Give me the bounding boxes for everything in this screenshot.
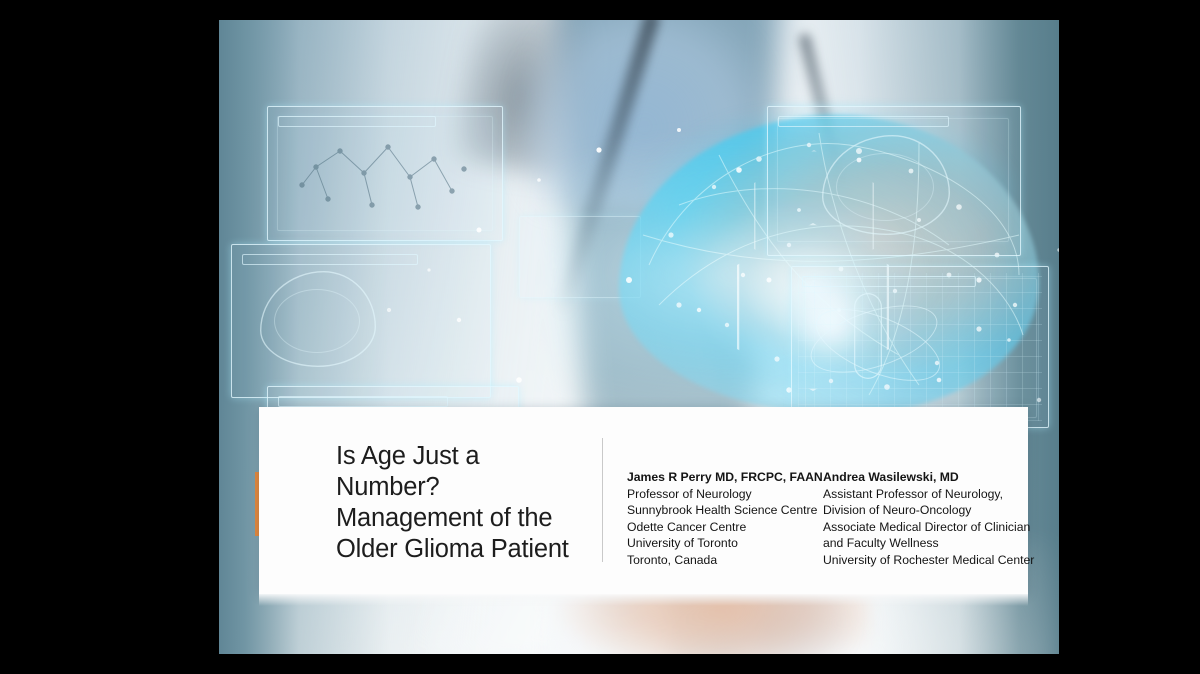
hud-panel-top-right-inner [777, 118, 1009, 242]
speaker-2-line-5: University of Rochester Medical Center [823, 552, 1045, 569]
video-player-stage: Is Age Just a Number? Management of the … [0, 0, 1200, 674]
speaker-divider [602, 438, 603, 562]
speaker-1-line-3: Odette Cancer Centre [627, 519, 827, 536]
speaker-2-line-1: Assistant Professor of Neurology, [823, 486, 1045, 503]
speaker-2-line-4: and Faculty Wellness [823, 535, 1045, 552]
speaker-block-2: Andrea Wasilewski, MD Assistant Professo… [823, 469, 1045, 569]
slide-title: Is Age Just a Number? Management of the … [336, 441, 611, 565]
speaker-1-line-5: Toronto, Canada [627, 552, 827, 569]
speaker-1-line-1: Professor of Neurology [627, 486, 827, 503]
hud-panel-mid-right-inner [805, 278, 1037, 418]
speaker-1-name: James R Perry MD, FRCPC, FAAN [627, 469, 827, 486]
speaker-1-line-4: University of Toronto [627, 535, 827, 552]
presentation-slide: Is Age Just a Number? Management of the … [219, 20, 1059, 654]
title-card: Is Age Just a Number? Management of the … [259, 407, 1028, 594]
speaker-2-line-3: Associate Medical Director of Clinician [823, 519, 1045, 536]
speaker-2-name: Andrea Wasilewski, MD [823, 469, 1045, 486]
speaker-2-line-2: Division of Neuro-Oncology [823, 502, 1045, 519]
speaker-1-line-2: Sunnybrook Health Science Centre [627, 502, 827, 519]
speaker-block-1: James R Perry MD, FRCPC, FAAN Professor … [627, 469, 827, 569]
